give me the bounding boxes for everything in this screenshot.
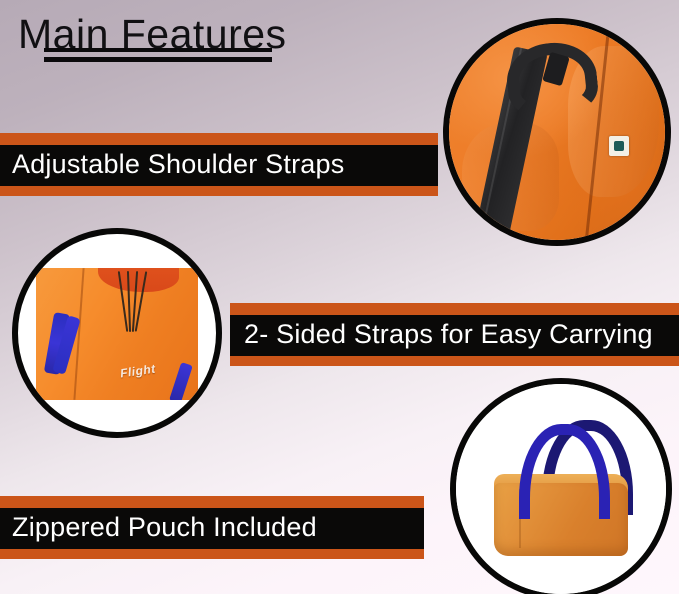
title-rule-bottom [44,57,272,62]
zipper-pocket-photo-inner: Flight [36,268,198,400]
feature-label-zippered-pouch-included: Zippered Pouch Included [12,511,412,544]
product-feature-infographic: Main Features Adjustable Shoulder Straps [0,0,679,594]
title-rule-top [44,48,272,52]
feature-banner-inner: 2- Sided Straps for Easy Carrying [230,315,679,356]
shoulder-strap-photo-inner [449,24,665,240]
photo-zippered-pouch [450,378,672,594]
feature-label-two-sided-straps: 2- Sided Straps for Easy Carrying [244,318,673,351]
zippered-pouch-photo-inner [456,384,666,594]
feature-banner-adjustable-shoulder-straps: Adjustable Shoulder Straps [0,133,438,196]
feature-label-adjustable-shoulder-straps: Adjustable Shoulder Straps [12,148,426,181]
drawstring-cords [120,271,146,332]
feature-banner-inner: Adjustable Shoulder Straps [0,145,438,186]
feature-banner-zippered-pouch-included: Zippered Pouch Included [0,496,424,559]
blue-zipper-strap-right [169,362,193,400]
photo-shoulder-strap-closeup [443,18,671,246]
feature-banner-two-sided-straps: 2- Sided Straps for Easy Carrying [230,303,679,366]
feature-banner-inner: Zippered Pouch Included [0,508,424,549]
title-underline-rules [44,48,272,62]
brand-label-tag [609,136,629,156]
brand-text-flight: Flight [119,362,156,381]
photo-zipper-pocket-closeup: Flight [12,228,222,438]
